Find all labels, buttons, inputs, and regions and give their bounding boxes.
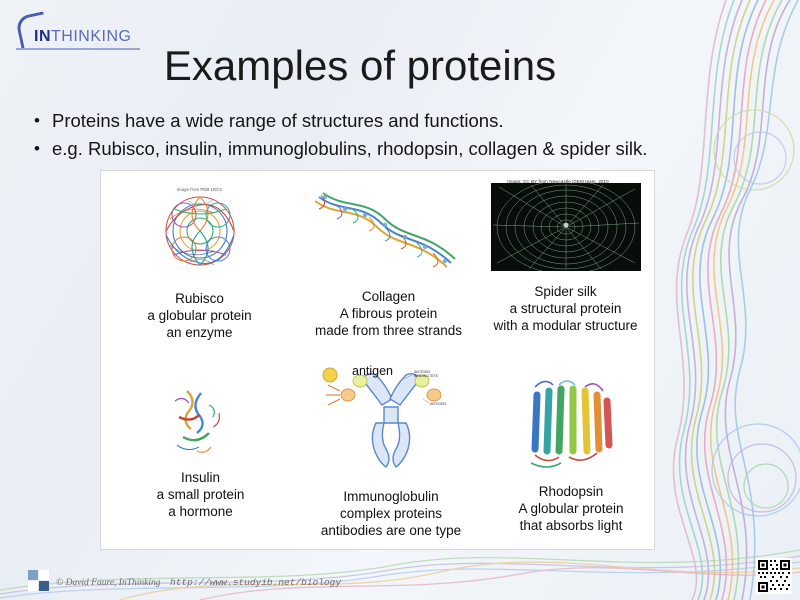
figure-caption-rubisco: Rubisco a globular protein an enzyme bbox=[107, 290, 292, 341]
figure-item-insulin: Insulin a small protein a hormone bbox=[113, 383, 288, 520]
bullet-text: e.g. Rubisco, insulin, immunoglobulins, … bbox=[52, 136, 647, 162]
figure-caption-insulin: Insulin a small protein a hormone bbox=[113, 469, 288, 520]
footer-text: © David Faure, InThinking http://www.stu… bbox=[56, 577, 341, 588]
slide: INTHINKING Examples of proteins • Protei… bbox=[0, 0, 800, 600]
figure-panel: Image from PDB 1RCX Rubisco a globular p… bbox=[100, 170, 655, 550]
rubisco-structure-image: Image from PDB 1RCX bbox=[140, 179, 260, 284]
figure-item-collagen: Collagen A fibrous protein made from thr… bbox=[296, 179, 481, 339]
figure-item-rubisco: Image from PDB 1RCX Rubisco a globular p… bbox=[107, 179, 292, 341]
list-item: • e.g. Rubisco, insulin, immunoglobulins… bbox=[34, 136, 724, 162]
figure-item-rhodopsin: Rhodopsin A globular protein that absorb… bbox=[491, 371, 651, 534]
figure-caption-immunoglobulin: Immunoglobulin complex proteins antibodi… bbox=[296, 488, 486, 539]
figure-caption-collagen: Collagen A fibrous protein made from thr… bbox=[296, 288, 481, 339]
collagen-triple-helix-image bbox=[301, 179, 476, 284]
rhodopsin-structure-image bbox=[511, 371, 631, 481]
qr-code[interactable] bbox=[756, 558, 792, 594]
list-item: • Proteins have a wide range of structur… bbox=[34, 108, 724, 134]
antigen-label: antigen bbox=[352, 363, 393, 380]
figure-item-immunoglobulin: ANTIGEN BINDING SITE ANTIGEN antigen Imm… bbox=[296, 361, 486, 539]
footer-square-logo-icon bbox=[28, 570, 50, 592]
footer-link[interactable]: http://www.studyib.net/biology bbox=[170, 577, 341, 588]
rubisco-image-credit: Image from PDB 1RCX bbox=[140, 181, 260, 198]
page-title: Examples of proteins bbox=[0, 42, 720, 90]
spider-web-photo bbox=[491, 183, 641, 271]
figure-caption-rhodopsin: Rhodopsin A globular protein that absorb… bbox=[491, 483, 651, 534]
decorative-swirl-band bbox=[650, 0, 800, 600]
figure-item-spider-silk: Image: CC BY from Newcastle iGEM team, 2… bbox=[483, 183, 648, 334]
bullet-list: • Proteins have a wide range of structur… bbox=[34, 108, 724, 164]
immunoglobulin-antibody-diagram: ANTIGEN BINDING SITE ANTIGEN antigen bbox=[296, 361, 486, 486]
footer: © David Faure, InThinking http://www.stu… bbox=[0, 564, 800, 600]
bullet-text: Proteins have a wide range of structures… bbox=[52, 108, 503, 134]
svg-text:ANTIGEN: ANTIGEN bbox=[430, 402, 446, 406]
insulin-structure-image bbox=[153, 383, 248, 463]
bullet-marker-icon: • bbox=[34, 136, 52, 162]
figure-caption-spider-silk: Spider silk a structural protein with a … bbox=[483, 283, 648, 334]
svg-text:BINDING SITE: BINDING SITE bbox=[414, 374, 439, 378]
footer-copyright: © David Faure, InThinking bbox=[56, 578, 161, 588]
bullet-marker-icon: • bbox=[34, 108, 52, 134]
